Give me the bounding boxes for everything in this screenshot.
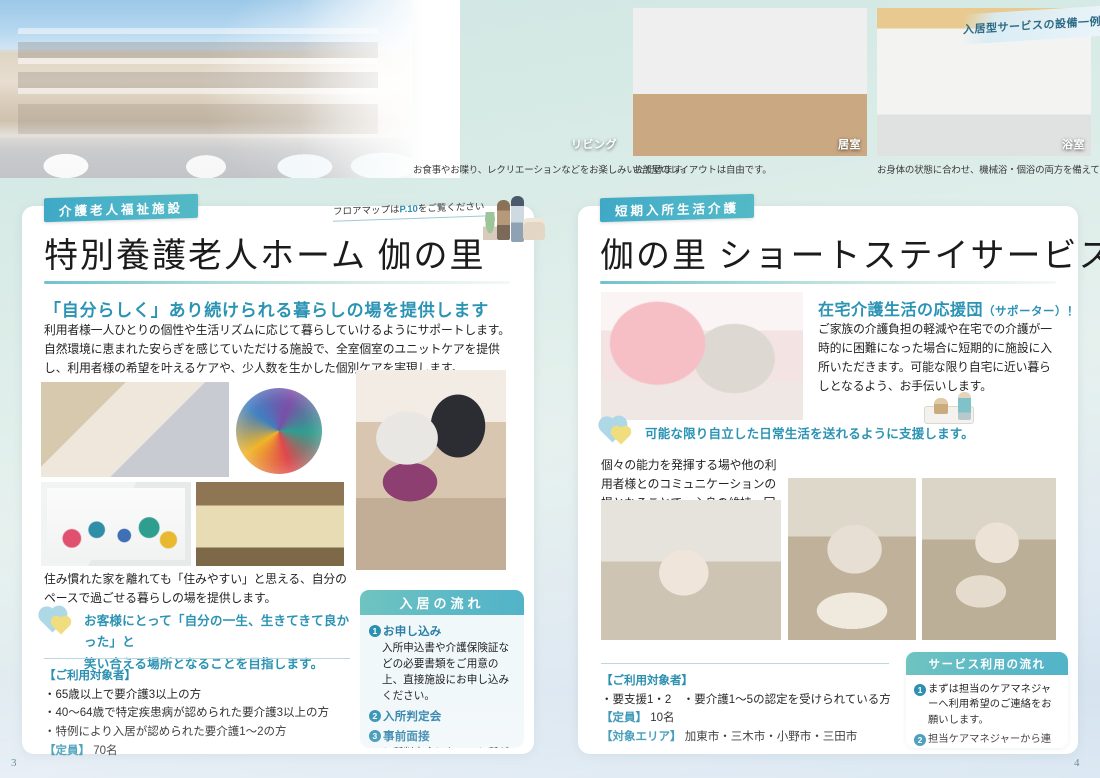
right-divider	[601, 663, 889, 664]
right-capacity-row: 【定員】 10名	[601, 709, 901, 728]
admission-flow-step: 3事前面接 入所判定会において入所が決定しましたら、相談員・ケアマネジャー・看護…	[369, 728, 515, 748]
service-flow-box: サービス利用の流れ 1まずは担当のケアマネジャーへ利用希望のご連絡をお願いします…	[906, 652, 1068, 748]
right-area-row: 【対象エリア】 加東市・三木市・小野市・三田市	[601, 728, 901, 747]
service-step-number-1-icon: 1	[914, 684, 926, 696]
left-eligibility-block: 【ご利用対象者】 ・65歳以上で要介護3以上の方 ・40〜64歳で特定疾患病が認…	[44, 667, 354, 760]
right-lead-heading: 在宅介護生活の応援団（サポーター）！	[818, 296, 1079, 320]
right-highlight-text: 可能な限り自立した日常生活を送れるように支援します。	[645, 424, 1045, 445]
left-section-tag: 介護老人福祉施設	[44, 194, 198, 222]
photo-resident-meal	[788, 478, 916, 640]
resident-figure-icon	[934, 398, 948, 414]
admission-flow-step: 2入所判定会	[369, 708, 515, 724]
photo-resident-meal-image	[788, 478, 916, 640]
left-title-rule	[44, 281, 510, 284]
left-eligibility-item-2: ・40〜64歳で特定疾患病が認められた要介護3以上の方	[44, 704, 354, 723]
photo-resident-staff-image	[356, 370, 506, 570]
left-lead-heading: 「自分らしく」あり続けられる暮らしの場を提供します	[44, 296, 489, 321]
left-body-text-2: 住み慣れた家を離れても「住みやすい」と思える、自分のペースで過ごせる暮らしの場を…	[44, 570, 354, 608]
page-number-right: 4	[1074, 757, 1080, 769]
photo-resident-walker-image	[601, 500, 781, 640]
heart-icon	[604, 422, 638, 448]
page-number-left: 3	[11, 757, 17, 769]
admission-flow-step-title-1: 1お申し込み	[369, 623, 515, 639]
service-flow-step-text-1: まずは担当のケアマネジャーへ利用希望のご連絡をお願いします。	[928, 682, 1060, 728]
photo-table-activity	[196, 482, 344, 566]
photo-room-image	[633, 8, 867, 156]
service-flow-step: 1まずは担当のケアマネジャーへ利用希望のご連絡をお願いします。	[914, 682, 1060, 728]
left-divider	[44, 658, 350, 659]
right-title-rule	[600, 281, 1056, 284]
admission-flow-step-title-2: 2入所判定会	[369, 708, 515, 724]
right-capacity-key: 【定員】	[601, 712, 647, 724]
service-flow-heading: サービス利用の流れ	[906, 652, 1068, 675]
right-lead-sub: （サポーター）！	[983, 306, 1079, 318]
plant-icon	[483, 212, 497, 240]
hero-banner-label: 入居型サービスの設備一例	[963, 13, 1100, 37]
floormap-note-text: フロアマップはP.10をご覧ください	[333, 198, 484, 217]
photo-bath-caption: 浴室	[1062, 136, 1085, 152]
right-area-value: 加東市・三木市・小野市・三田市	[685, 731, 858, 743]
service-flow-body: 1まずは担当のケアマネジャーへ利用希望のご連絡をお願いします。 2担当ケアマネジ…	[906, 675, 1068, 748]
photo-caregiver-resident	[601, 292, 803, 420]
left-section-title: 特別養護老人ホーム 伽の里	[44, 228, 485, 277]
admission-flow-body: 1お申し込み 入所申込書や介護保険証などの必要書類をご用意の上、直接施設にお申し…	[360, 615, 524, 748]
step-number-2-icon: 2	[369, 710, 381, 722]
nurse-figure-icon	[958, 392, 971, 420]
left-highlight-text: お客様にとって「自分の一生、生きてきて良かった」と 笑い合える場所となることを目…	[84, 611, 354, 675]
left-eligibility-heading: 【ご利用対象者】	[44, 667, 354, 686]
step-number-3-icon: 3	[369, 730, 381, 742]
right-eligibility-heading: 【ご利用対象者】	[601, 672, 901, 691]
left-highlight-line-1: お客様にとって「自分の一生、生きてきて良かった」と	[84, 611, 354, 654]
hero-strip: リビング 居室 浴室 入居型サービスの設備一例	[0, 0, 1100, 186]
photo-artwork	[41, 482, 191, 566]
right-section-title: 伽の里 ショートステイサービス	[600, 228, 1100, 277]
admission-flow-step-desc-3: 入所判定会において入所が決定しましたら、相談員・ケアマネジャー・看護師等で面接を…	[369, 745, 515, 748]
heart-yellow-icon	[613, 428, 630, 445]
left-capacity-row: 【定員】 70名	[44, 742, 354, 761]
photo-origami	[236, 388, 322, 474]
left-eligibility-item-3: ・特例により入居が認められた要介護1〜2の方	[44, 723, 354, 742]
admission-flow-step: 1お申し込み 入所申込書や介護保険証などの必要書類をご用意の上、直接施設にお申し…	[369, 623, 515, 704]
photo-room-caption: 居室	[838, 136, 861, 152]
elderly-figure-icon	[497, 200, 510, 240]
photo-living-image	[413, 8, 623, 156]
photo-room: 居室	[633, 8, 867, 156]
heart-icon	[44, 612, 78, 638]
heart-yellow-icon	[53, 618, 70, 635]
service-flow-step-text-2: 担当ケアマネジャーから連絡を受け、ご予約を受付します。	[928, 732, 1060, 748]
service-flow-step: 2担当ケアマネジャーから連絡を受け、ご予約を受付します。	[914, 732, 1060, 748]
admission-flow-step-title-3: 3事前面接	[369, 728, 515, 744]
right-eligibility-line: ・要支援1・2 ・要介護1〜5の認定を受けられている方	[601, 691, 901, 710]
service-step-number-2-icon: 2	[914, 734, 926, 746]
photo-exercise	[41, 382, 229, 477]
photo-resident-walker	[601, 500, 781, 640]
photo-bath-note: お身体の状態に合わせ、機械浴・個浴の両方を備えています。	[877, 162, 1100, 176]
right-body-text: ご家族の介護負担の軽減や在宅での介護が一時的に困難になった場合に短期的に施設に入…	[818, 320, 1058, 396]
admission-flow-box: 入居の流れ 1お申し込み 入所申込書や介護保険証などの必要書類をご用意の上、直接…	[360, 590, 524, 748]
sofa-icon	[523, 218, 545, 240]
left-capacity-value: 70名	[93, 745, 117, 757]
people-illustration-icon	[483, 192, 543, 262]
admission-flow-step-desc-1: 入所申込書や介護保険証などの必要書類をご用意の上、直接施設にお申し込みください。	[369, 640, 515, 704]
photo-resident-dining	[922, 478, 1056, 640]
right-capacity-value: 10名	[650, 712, 674, 724]
floormap-page-ref: P.10	[400, 204, 418, 216]
admission-flow-heading: 入居の流れ	[360, 590, 524, 615]
photo-room-note: お部屋のレイアウトは自由です。	[633, 162, 772, 176]
step-number-1-icon: 1	[369, 625, 381, 637]
photo-resident-dining-image	[922, 478, 1056, 640]
photo-living: リビング	[413, 8, 623, 156]
photo-resident-staff	[356, 370, 506, 570]
photo-living-caption: リビング	[571, 136, 617, 152]
left-capacity-key: 【定員】	[44, 745, 90, 757]
right-section-tag: 短期入所生活介護	[600, 194, 754, 222]
right-area-key: 【対象エリア】	[601, 731, 682, 743]
left-eligibility-item-1: ・65歳以上で要介護3以上の方	[44, 686, 354, 705]
photo-artwork-image	[47, 488, 185, 560]
right-eligibility-block: 【ご利用対象者】 ・要支援1・2 ・要介護1〜5の認定を受けられている方 【定員…	[601, 672, 901, 747]
